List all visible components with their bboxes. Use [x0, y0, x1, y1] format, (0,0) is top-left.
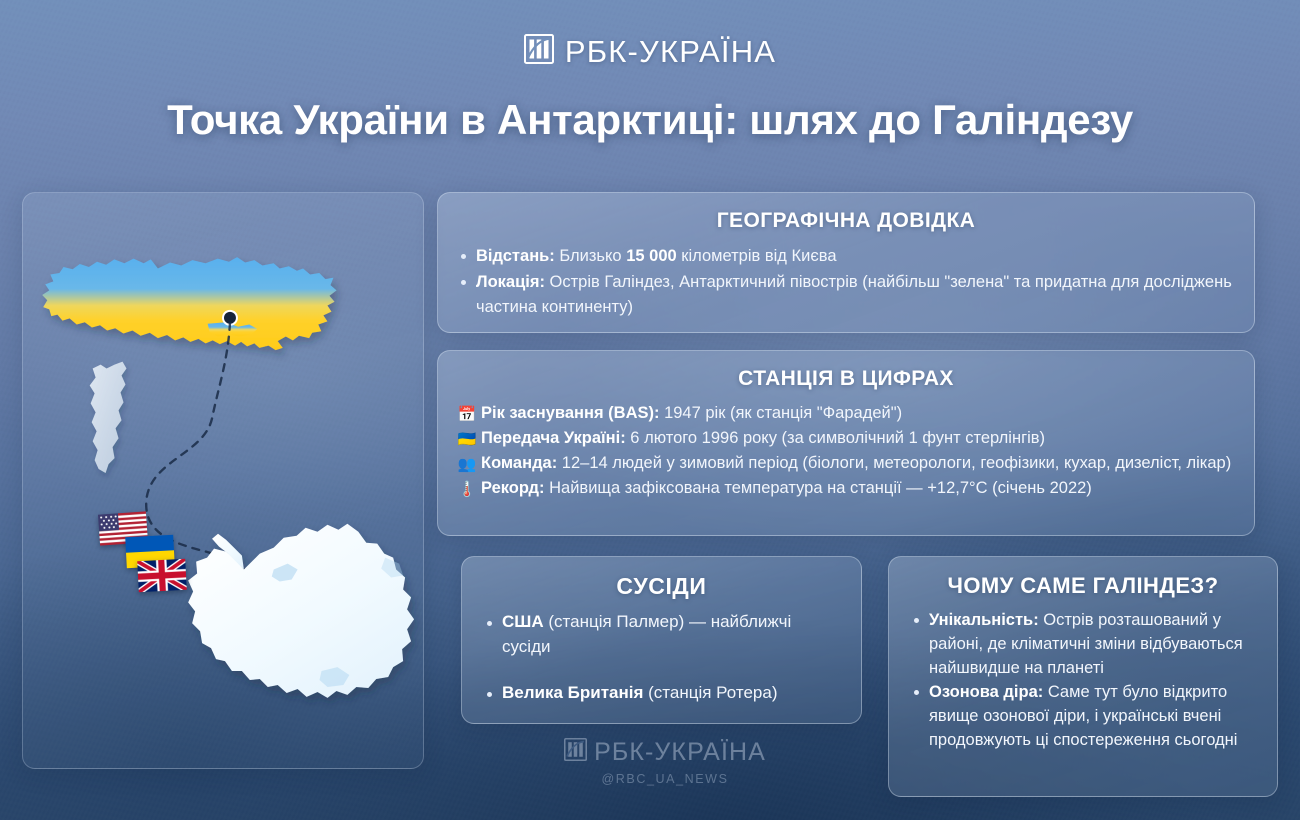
- item-text: (станція Ротера): [643, 683, 777, 702]
- item-label: Рік заснування (BAS):: [481, 404, 659, 422]
- antarctica-shape: [188, 524, 414, 698]
- route-path: [146, 323, 244, 570]
- flag-uk-icon: [137, 559, 187, 592]
- map-panel: [22, 192, 424, 769]
- page-title: Точка України в Антарктиці: шлях до Галі…: [0, 96, 1300, 143]
- item-text: 1947 рік (як станція "Фарадей"): [659, 404, 902, 422]
- card-neighbors-title: СУСІДИ: [482, 573, 841, 600]
- card-station-numbers-title: СТАНЦІЯ В ЦИФРАХ: [456, 367, 1236, 391]
- list-item: Велика Британія (станція Ротера): [482, 681, 841, 706]
- list-item: 📅Рік заснування (BAS): 1947 рік (як стан…: [456, 401, 1236, 426]
- calendar-icon: 📅: [456, 407, 478, 422]
- card-why-galindez-list: Унікальність: Острів розташований у райо…: [909, 608, 1257, 752]
- item-text: 6 лютого 1996 року (за символічний 1 фун…: [626, 429, 1045, 447]
- map-illustration: [23, 193, 423, 768]
- item-text-2: кілометрів від Києва: [677, 247, 837, 265]
- item-text: 12–14 людей у зимовий період (біологи, м…: [557, 454, 1231, 472]
- item-label: Рекорд:: [481, 479, 545, 497]
- card-geography-list: Відстань: Близько 15 000 кілометрів від …: [456, 244, 1236, 319]
- item-label: Велика Британія: [502, 683, 643, 702]
- thermometer-icon: 🌡️: [456, 482, 478, 497]
- item-text: Найвища зафіксована температура на станц…: [545, 479, 1092, 497]
- list-item: Локація: Острів Галіндез, Антарктичний п…: [456, 270, 1236, 320]
- list-item: Відстань: Близько 15 000 кілометрів від …: [456, 244, 1236, 269]
- list-item: 🌡️Рекорд: Найвища зафіксована температур…: [456, 476, 1236, 501]
- item-label: Відстань:: [476, 247, 555, 265]
- list-item: США (станція Палмер) — найближчі сусіди: [482, 610, 841, 659]
- card-why-galindez-title: ЧОМУ САМЕ ГАЛІНДЕЗ?: [909, 573, 1257, 599]
- card-station-numbers: СТАНЦІЯ В ЦИФРАХ 📅Рік заснування (BAS): …: [437, 350, 1255, 536]
- item-label: Передача Україні:: [481, 429, 626, 447]
- ukraine-shape: [42, 257, 336, 350]
- rbc-logo-icon: [524, 34, 554, 69]
- item-text: Близько: [555, 247, 626, 265]
- item-label: Команда:: [481, 454, 557, 472]
- south-america-shape: [90, 362, 127, 473]
- item-label: США: [502, 612, 544, 631]
- item-text: (станція Палмер) — найближчі сусіди: [502, 612, 791, 656]
- card-geography-title: ГЕОГРАФІЧНА ДОВІДКА: [456, 209, 1236, 233]
- item-text: Острів Галіндез, Антарктичний півострів …: [476, 273, 1232, 316]
- flag-ukraine-icon: 🇺🇦: [456, 432, 478, 447]
- card-station-numbers-list: 📅Рік заснування (BAS): 1947 рік (як стан…: [456, 401, 1236, 501]
- list-item: Озонова діра: Саме тут було відкрито яви…: [909, 680, 1257, 752]
- list-item: 🇺🇦Передача Україні: 6 лютого 1996 року (…: [456, 426, 1236, 451]
- item-highlight: 15 000: [626, 247, 676, 265]
- people-icon: 👥: [456, 457, 478, 472]
- item-label: Озонова діра:: [929, 683, 1043, 701]
- brand-name: РБК-УКРАЇНА: [565, 36, 776, 67]
- card-geography: ГЕОГРАФІЧНА ДОВІДКА Відстань: Близько 15…: [437, 192, 1255, 333]
- item-label: Локація:: [476, 273, 545, 291]
- brand-header: РБК-УКРАЇНА: [0, 34, 1300, 69]
- card-neighbors-list: США (станція Палмер) — найближчі сусіди …: [482, 610, 841, 706]
- item-label: Унікальність:: [929, 611, 1039, 629]
- list-item: Унікальність: Острів розташований у райо…: [909, 608, 1257, 680]
- list-item: 👥Команда: 12–14 людей у зимовий період (…: [456, 451, 1236, 476]
- card-why-galindez: ЧОМУ САМЕ ГАЛІНДЕЗ? Унікальність: Острів…: [888, 556, 1278, 797]
- card-neighbors: СУСІДИ США (станція Палмер) — найближчі …: [461, 556, 862, 724]
